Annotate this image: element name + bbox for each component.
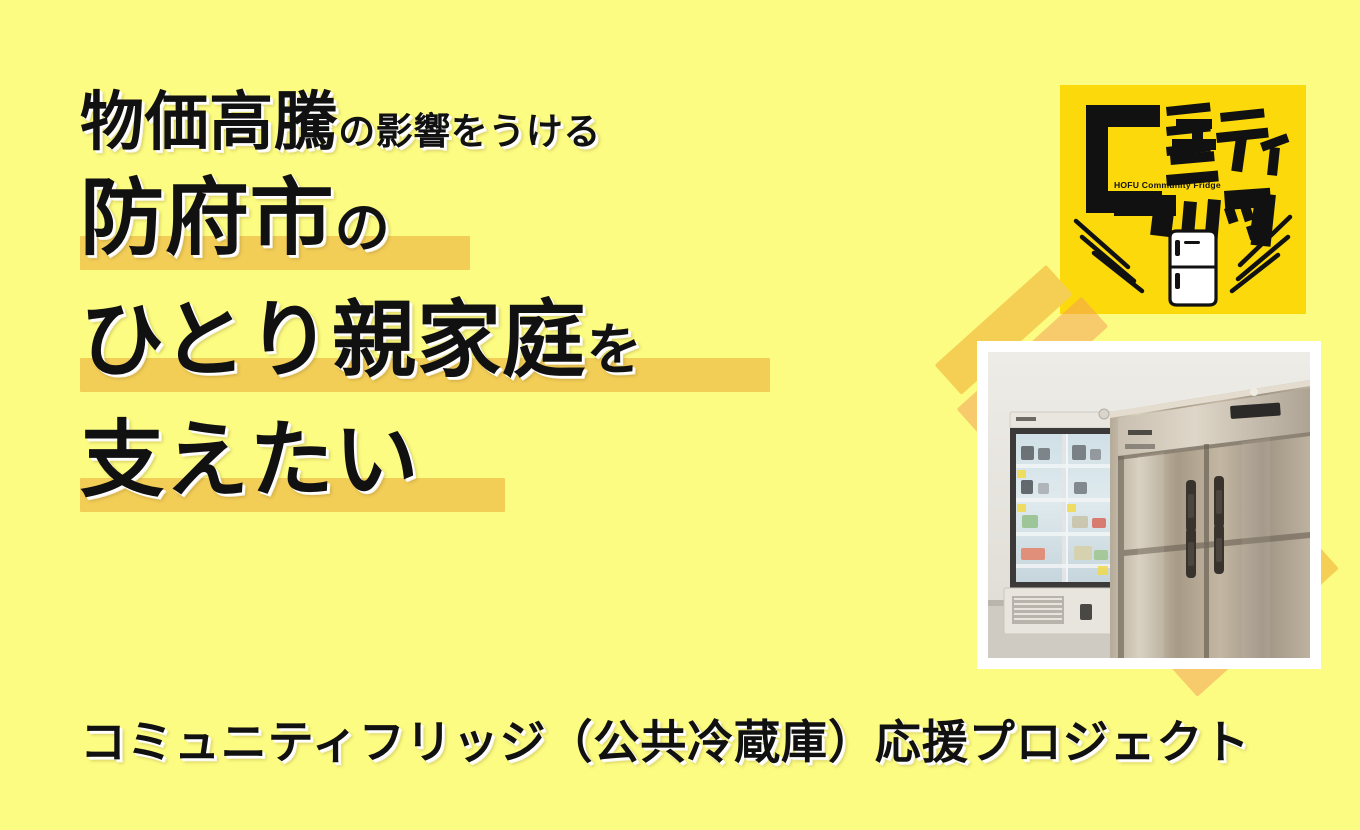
logo-speed-lines-left: [1076, 221, 1142, 291]
photo-module: [966, 332, 1330, 677]
refrigerator-photo: [977, 341, 1321, 669]
logo-kana-i-small: [1260, 133, 1289, 175]
headline-line-4: 支えたい: [80, 404, 920, 516]
headline-line-2-emphasis: 防府市: [80, 169, 335, 267]
logo-tagline: HOFU Community Fridge: [1114, 180, 1221, 190]
glass-door-refrigerator: [1004, 409, 1128, 634]
refrigerator-photo-art: [988, 352, 1310, 658]
fridge-icon: [1170, 231, 1216, 305]
headline-line-1-emphasis: 物価高騰: [80, 86, 338, 160]
headline-line-2: 防府市の: [80, 162, 920, 274]
stainless-steel-four-door-refrigerator: [1110, 380, 1310, 658]
logo-kana-te: [1216, 108, 1269, 172]
headline-line-3-emphasis: ひとり親家庭: [80, 291, 587, 389]
project-caption: コミュニティフリッジ（公共冷蔵庫）応援プロジェクト: [80, 712, 1250, 772]
headline-line-3: ひとり親家庭を: [80, 284, 920, 396]
headline-line-1: 物価高騰の影響をうける: [80, 86, 920, 160]
headline-line-1-rest: の影響をうける: [338, 110, 601, 153]
community-fridge-logo: HOFU Community Fridge: [1060, 85, 1306, 314]
poster-canvas: 物価高騰の影響をうける 防府市の ひとり親家庭を 支えたい コミュニティフリッジ…: [0, 0, 1360, 830]
headline-line-2-rest: の: [335, 197, 391, 261]
logo-kana-fu: [1114, 195, 1176, 237]
headline-line-4-emphasis: 支えたい: [80, 411, 419, 509]
headline-block: 物価高騰の影響をうける 防府市の ひとり親家庭を 支えたい: [80, 86, 920, 516]
headline-line-3-rest: を: [587, 319, 643, 383]
logo-artwork: HOFU Community Fridge: [1060, 85, 1306, 314]
